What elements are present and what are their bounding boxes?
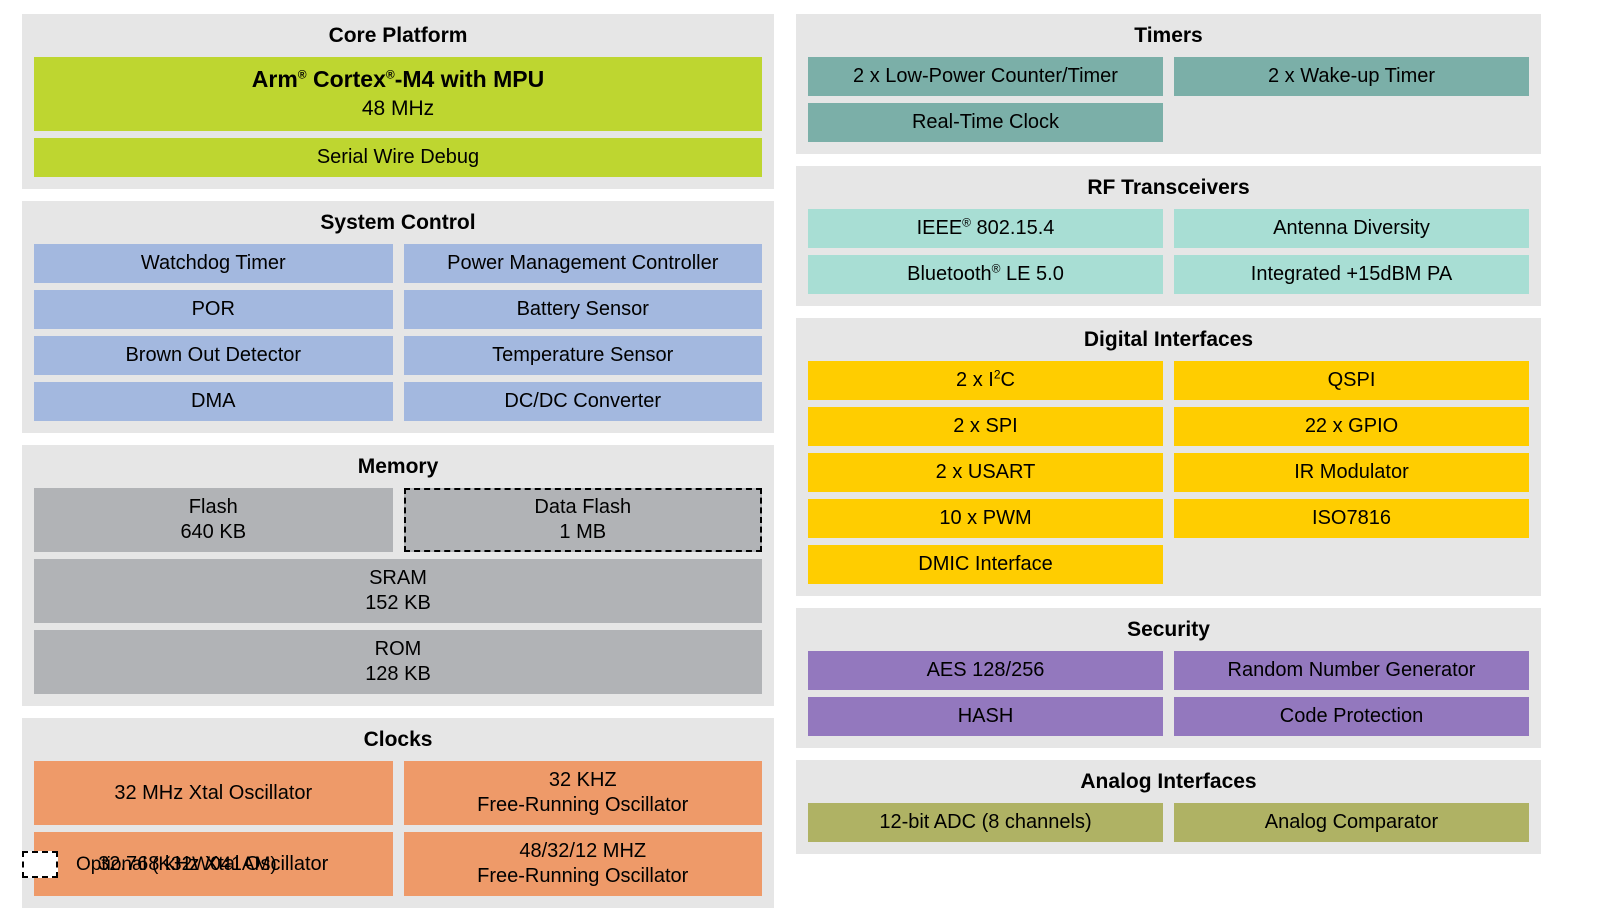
rf-row: IEEE® 802.15.4 Antenna Diversity [808, 209, 1529, 248]
block-multi-fro-line2: Free-Running Oscillator [477, 864, 688, 889]
block-ir-modulator[interactable]: IR Modulator [1174, 453, 1529, 492]
block-aes-128-256[interactable]: AES 128/256 [808, 651, 1163, 690]
system-control-row: Brown Out Detector Temperature Sensor [34, 336, 762, 375]
panel-rf-transceivers: RF Transceivers IEEE® 802.15.4 Antenna D… [796, 166, 1541, 306]
block-diagram: Core Platform Arm® Cortex®-M4 with MPU 4… [0, 0, 1601, 900]
block-data-flash-optional[interactable]: Data Flash 1 MB [404, 488, 763, 552]
block-battery-sensor[interactable]: Battery Sensor [404, 290, 763, 329]
panel-core-platform: Core Platform Arm® Cortex®-M4 with MPU 4… [22, 14, 774, 189]
block-code-protection[interactable]: Code Protection [1174, 697, 1529, 736]
system-control-row: DMA DC/DC Converter [34, 382, 762, 421]
system-control-row: Watchdog Timer Power Management Controll… [34, 244, 762, 283]
block-sram-name: SRAM [369, 566, 427, 591]
security-rows: AES 128/256 Random Number Generator HASH… [808, 651, 1529, 736]
rf-row: Bluetooth® LE 5.0 Integrated +15dBM PA [808, 255, 1529, 294]
block-ieee-label: IEEE® 802.15.4 [917, 216, 1055, 241]
block-32khz-fro-line2: Free-Running Oscillator [477, 793, 688, 818]
memory-row: SRAM 152 KB [34, 559, 762, 623]
panel-system-control: System Control Watchdog Timer Power Mana… [22, 201, 774, 433]
memory-row: Flash 640 KB Data Flash 1 MB [34, 488, 762, 552]
timers-rows: 2 x Low-Power Counter/Timer 2 x Wake-up … [808, 57, 1529, 142]
block-data-flash-size: 1 MB [559, 520, 606, 545]
block-pwm[interactable]: 10 x PWM [808, 499, 1163, 538]
panel-title-security: Security [808, 616, 1529, 644]
block-rom-name: ROM [375, 637, 422, 662]
panel-analog-interfaces: Analog Interfaces 12-bit ADC (8 channels… [796, 760, 1541, 854]
block-low-power-counter-timer[interactable]: 2 x Low-Power Counter/Timer [808, 57, 1163, 96]
block-gpio[interactable]: 22 x GPIO [1174, 407, 1529, 446]
block-arm-cortex-m4[interactable]: Arm® Cortex®-M4 with MPU 48 MHz [34, 57, 762, 131]
security-row: AES 128/256 Random Number Generator [808, 651, 1529, 690]
panel-timers: Timers 2 x Low-Power Counter/Timer 2 x W… [796, 14, 1541, 154]
block-sram-size: 152 KB [365, 591, 431, 616]
block-multi-free-running-oscillator[interactable]: 48/32/12 MHZ Free-Running Oscillator [404, 832, 763, 896]
block-i2c[interactable]: 2 x I2C [808, 361, 1163, 400]
block-sram[interactable]: SRAM 152 KB [34, 559, 762, 623]
left-column: Core Platform Arm® Cortex®-M4 with MPU 4… [22, 14, 774, 908]
block-32khz-fro-line1: 32 KHZ [549, 768, 617, 793]
legend-dashed-swatch-icon [22, 851, 58, 878]
block-ieee-802-15-4[interactable]: IEEE® 802.15.4 [808, 209, 1163, 248]
block-analog-comparator[interactable]: Analog Comparator [1174, 803, 1529, 842]
analog-row: 12-bit ADC (8 channels) Analog Comparato… [808, 803, 1529, 842]
panel-clocks: Clocks 32 MHz Xtal Oscillator 32 KHZ Fre… [22, 718, 774, 908]
system-control-row: POR Battery Sensor [34, 290, 762, 329]
block-dmic-interface[interactable]: DMIC Interface [808, 545, 1163, 584]
block-arm-cortex-m4-line2: 48 MHz [362, 94, 434, 124]
block-12-bit-adc[interactable]: 12-bit ADC (8 channels) [808, 803, 1163, 842]
timers-row: Real-Time Clock [808, 103, 1529, 142]
block-integrated-pa[interactable]: Integrated +15dBM PA [1174, 255, 1529, 294]
timers-row: 2 x Low-Power Counter/Timer 2 x Wake-up … [808, 57, 1529, 96]
digital-row: 2 x SPI 22 x GPIO [808, 407, 1529, 446]
block-spi[interactable]: 2 x SPI [808, 407, 1163, 446]
panel-title-system-control: System Control [34, 209, 762, 237]
panel-security: Security AES 128/256 Random Number Gener… [796, 608, 1541, 748]
panel-title-clocks: Clocks [34, 726, 762, 754]
panel-title-memory: Memory [34, 453, 762, 481]
clocks-row: 32 MHz Xtal Oscillator 32 KHZ Free-Runni… [34, 761, 762, 825]
panel-memory: Memory Flash 640 KB Data Flash 1 MB SRAM [22, 445, 774, 706]
panel-title-core-platform: Core Platform [34, 22, 762, 50]
digital-row: DMIC Interface [808, 545, 1529, 584]
block-power-management-controller[interactable]: Power Management Controller [404, 244, 763, 283]
block-flash[interactable]: Flash 640 KB [34, 488, 393, 552]
digital-row: 10 x PWM ISO7816 [808, 499, 1529, 538]
block-real-time-clock[interactable]: Real-Time Clock [808, 103, 1163, 142]
spacer-cell [1174, 103, 1529, 142]
panel-digital-interfaces: Digital Interfaces 2 x I2C QSPI 2 x SPI … [796, 318, 1541, 596]
core-platform-rows: Arm® Cortex®-M4 with MPU 48 MHz Serial W… [34, 57, 762, 177]
block-brown-out-detector[interactable]: Brown Out Detector [34, 336, 393, 375]
block-temperature-sensor[interactable]: Temperature Sensor [404, 336, 763, 375]
block-bluetooth-le-5-0[interactable]: Bluetooth® LE 5.0 [808, 255, 1163, 294]
block-random-number-generator[interactable]: Random Number Generator [1174, 651, 1529, 690]
rf-rows: IEEE® 802.15.4 Antenna Diversity Bluetoo… [808, 209, 1529, 294]
block-32khz-free-running-oscillator[interactable]: 32 KHZ Free-Running Oscillator [404, 761, 763, 825]
block-watchdog-timer[interactable]: Watchdog Timer [34, 244, 393, 283]
block-multi-fro-line1: 48/32/12 MHZ [519, 839, 646, 864]
panel-title-digital-interfaces: Digital Interfaces [808, 326, 1529, 354]
block-antenna-diversity[interactable]: Antenna Diversity [1174, 209, 1529, 248]
block-data-flash-name: Data Flash [534, 495, 631, 520]
block-por[interactable]: POR [34, 290, 393, 329]
spacer-cell [1174, 545, 1529, 584]
security-row: HASH Code Protection [808, 697, 1529, 736]
core-platform-row: Serial Wire Debug [34, 138, 762, 177]
panel-title-timers: Timers [808, 22, 1529, 50]
block-bluetooth-label: Bluetooth® LE 5.0 [907, 262, 1064, 287]
panel-title-analog-interfaces: Analog Interfaces [808, 768, 1529, 796]
block-arm-cortex-m4-line1: Arm® Cortex®-M4 with MPU [252, 64, 544, 94]
block-serial-wire-debug[interactable]: Serial Wire Debug [34, 138, 762, 177]
block-iso7816[interactable]: ISO7816 [1174, 499, 1529, 538]
memory-row: ROM 128 KB [34, 630, 762, 694]
block-dcdc-converter[interactable]: DC/DC Converter [404, 382, 763, 421]
block-usart[interactable]: 2 x USART [808, 453, 1163, 492]
core-platform-row: Arm® Cortex®-M4 with MPU 48 MHz [34, 57, 762, 131]
digital-rows: 2 x I2C QSPI 2 x SPI 22 x GPIO 2 x USART… [808, 361, 1529, 584]
memory-rows: Flash 640 KB Data Flash 1 MB SRAM 152 KB [34, 488, 762, 694]
block-wake-up-timer[interactable]: 2 x Wake-up Timer [1174, 57, 1529, 96]
block-dma[interactable]: DMA [34, 382, 393, 421]
analog-rows: 12-bit ADC (8 channels) Analog Comparato… [808, 803, 1529, 842]
digital-row: 2 x I2C QSPI [808, 361, 1529, 400]
system-control-rows: Watchdog Timer Power Management Controll… [34, 244, 762, 421]
digital-row: 2 x USART IR Modulator [808, 453, 1529, 492]
block-i2c-label: 2 x I2C [956, 368, 1015, 393]
block-rom[interactable]: ROM 128 KB [34, 630, 762, 694]
block-flash-size: 640 KB [180, 520, 246, 545]
block-hash[interactable]: HASH [808, 697, 1163, 736]
block-32mhz-xtal-oscillator[interactable]: 32 MHz Xtal Oscillator [34, 761, 393, 825]
legend: Optional (K32W041AM) [22, 851, 277, 878]
block-rom-size: 128 KB [365, 662, 431, 687]
panel-title-rf-transceivers: RF Transceivers [808, 174, 1529, 202]
block-qspi[interactable]: QSPI [1174, 361, 1529, 400]
block-flash-name: Flash [189, 495, 238, 520]
right-column: Timers 2 x Low-Power Counter/Timer 2 x W… [796, 14, 1541, 854]
legend-label: Optional (K32W041AM) [76, 854, 277, 876]
